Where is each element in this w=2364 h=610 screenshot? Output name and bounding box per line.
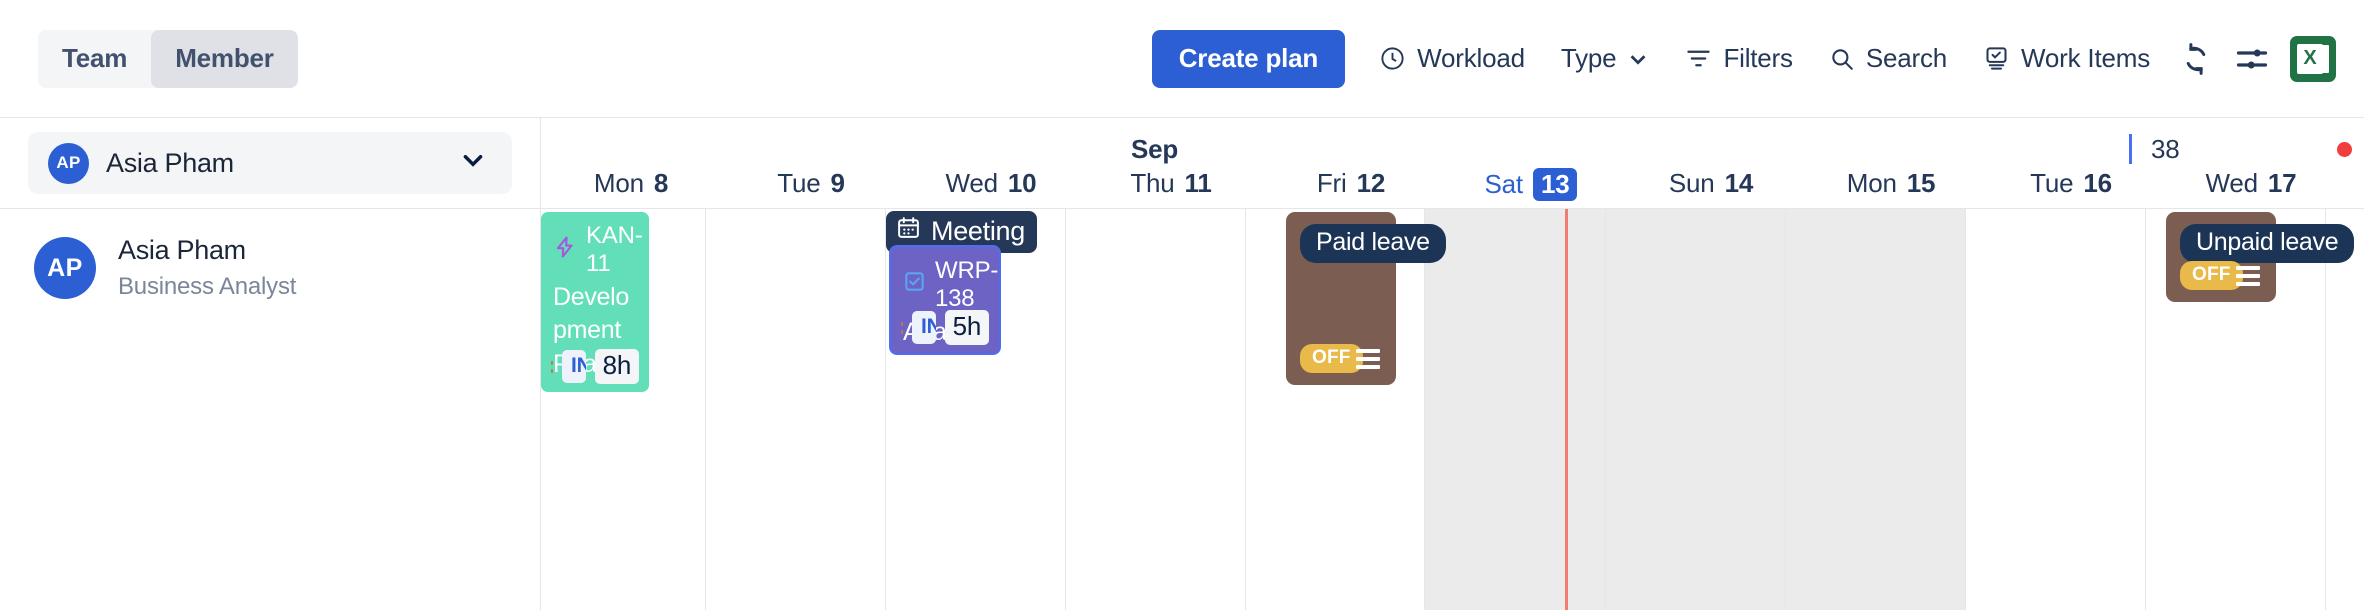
member-sidebar: AP Asia Pham AP Asia Pham Business Analy… [0,118,541,610]
leave-card-paid[interactable]: Paid leave OFF [1286,212,1396,385]
column-divider [1605,209,1606,610]
day-of-week: Mon [594,168,644,199]
member-picker-name: Asia Pham [106,148,443,179]
day-of-week: Fri [1317,168,1347,199]
card-footer: IN PR... 8h [551,349,639,384]
leave-card-unpaid[interactable]: Unpaid leave OFF [2166,212,2276,302]
week-number: 38 [2151,134,2180,165]
week-separator [2129,134,2132,164]
priority-medium-icon [551,361,553,373]
day-of-week: Thu [1130,168,1174,199]
card-key-row: KAN-11 [553,222,637,278]
day-number: 9 [830,168,844,199]
day-number: 17 [2268,168,2297,199]
toolbar-filters[interactable]: Filters [1667,30,1810,88]
column-divider [705,209,706,610]
card-key: KAN-11 [586,222,643,278]
column-divider [1245,209,1246,610]
day-of-week: Tue [777,168,820,199]
priority-medium-icon [901,322,903,334]
top-toolbar: Team Member Create plan Workload Type [0,0,2364,118]
column-divider [1785,209,1786,610]
non-working-days-shading [1424,209,1966,610]
toolbar-search-label: Search [1866,43,1947,74]
card-footer: IN PR... 5h [901,310,989,345]
day-number: 15 [1907,168,1936,199]
planner-body: AP Asia Pham AP Asia Pham Business Analy… [0,118,2364,610]
day-number: 14 [1725,168,1754,199]
day-of-week: Wed [946,168,998,199]
day-header-fri-12[interactable]: Fri 12 [1261,168,1441,199]
menu-icon[interactable] [1356,349,1380,369]
create-plan-button[interactable]: Create plan [1152,30,1345,88]
column-divider [885,209,886,610]
toolbar-work-items[interactable]: Work Items [1965,30,2168,88]
day-of-week: Sat [1485,169,1523,200]
day-header-mon-15[interactable]: Mon 15 [1801,168,1981,199]
day-header-sun-14[interactable]: Sun 14 [1621,168,1801,199]
holiday-dot-icon [2337,142,2352,157]
day-header-wed-17[interactable]: Wed 17 [2161,168,2341,199]
member-picker-dropdown[interactable]: AP Asia Pham [28,132,512,194]
off-badge: OFF [1300,344,1363,373]
column-divider [1965,209,1966,610]
day-number: 16 [2083,168,2112,199]
toolbar-work-items-label: Work Items [2021,43,2150,74]
column-divider [1424,209,1425,610]
day-header-wed-10[interactable]: Wed 10 [901,168,1081,199]
timeline-calendar: Sep 38 Sep Mon 8 Tue 9 Wed 10 Thu 11 [541,118,2364,610]
leave-type-badge: Paid leave [1300,224,1446,263]
day-number: 13 [1533,168,1578,201]
refresh-icon[interactable] [2168,31,2224,87]
chevron-down-icon [460,147,486,179]
chevron-down-icon [1627,48,1649,70]
segment-team[interactable]: Team [38,30,151,88]
toolbar-workload-label: Workload [1417,43,1525,74]
day-number: 10 [1008,168,1037,199]
day-of-week: Mon [1847,168,1897,199]
day-header-thu-11[interactable]: Thu 11 [1081,168,1261,199]
epic-bolt-icon [553,235,577,266]
calendar-icon [896,215,921,247]
search-icon [1829,46,1855,72]
toolbar-type-dropdown[interactable]: Type [1543,30,1668,88]
view-mode-segmented-control[interactable]: Team Member [38,30,298,88]
toolbar-type-label: Type [1561,43,1617,74]
work-items-icon [1983,45,2010,72]
event-card-wrp-138[interactable]: WRP-138 Analyze per formance IN PR... 5h [889,245,1001,355]
status-badge: IN PR... [562,350,586,383]
member-name: Asia Pham [118,235,296,266]
card-key-row: WRP-138 [903,257,987,313]
toolbar-actions: Create plan Workload Type [1152,0,2336,117]
clock-icon [1379,45,1406,72]
menu-icon[interactable] [2236,266,2260,286]
day-header-tue-16[interactable]: Tue 16 [1981,168,2161,199]
excel-export-icon[interactable]: X [2290,36,2336,82]
toolbar-workload[interactable]: Workload [1361,30,1543,88]
day-header-tue-9[interactable]: Tue 9 [721,168,901,199]
member-list-item[interactable]: AP Asia Pham Business Analyst [0,209,540,301]
off-badge: OFF [2180,261,2243,290]
month-label-left: Sep [1131,134,1178,165]
day-header-sat-13-today[interactable]: Sat 13 [1441,168,1621,201]
day-of-week: Wed [2206,168,2258,199]
estimate-hours: 5h [945,310,989,345]
day-number: 8 [654,168,668,199]
meeting-label: Meeting [931,216,1025,247]
member-info: Asia Pham Business Analyst [118,235,296,301]
column-divider [2145,209,2146,610]
toolbar-filters-label: Filters [1723,43,1792,74]
day-of-week: Tue [2030,168,2073,199]
excel-letter: X [2297,44,2323,74]
segment-member[interactable]: Member [151,30,298,88]
current-time-indicator [1565,209,1568,610]
day-number: 11 [1185,168,1212,199]
estimate-hours: 8h [595,349,639,384]
filter-icon [1685,45,1712,72]
calendar-grid: KAN-11 Development Phase IN PR... 8h [541,209,2364,610]
day-header-mon-8[interactable]: Mon 8 [541,168,721,199]
excel-tab-shape [2322,45,2329,73]
day-of-week: Sun [1669,168,1715,199]
settings-sliders-icon[interactable] [2224,31,2280,87]
day-number: 12 [1357,168,1386,199]
card-key: WRP-138 [935,257,998,313]
toolbar-search[interactable]: Search [1811,30,1965,88]
task-check-icon [903,270,926,300]
column-divider [1065,209,1066,610]
leave-type-badge: Unpaid leave [2180,224,2354,263]
member-role: Business Analyst [118,273,296,301]
column-divider [2325,209,2326,610]
avatar: AP [34,237,96,299]
calendar-header: Sep 38 Sep Mon 8 Tue 9 Wed 10 Thu 11 [541,118,2364,209]
event-card-kan-11[interactable]: KAN-11 Development Phase IN PR... 8h [541,212,649,392]
member-picker-row: AP Asia Pham [0,118,540,209]
avatar: AP [48,143,89,184]
status-badge: IN PR... [912,311,936,344]
